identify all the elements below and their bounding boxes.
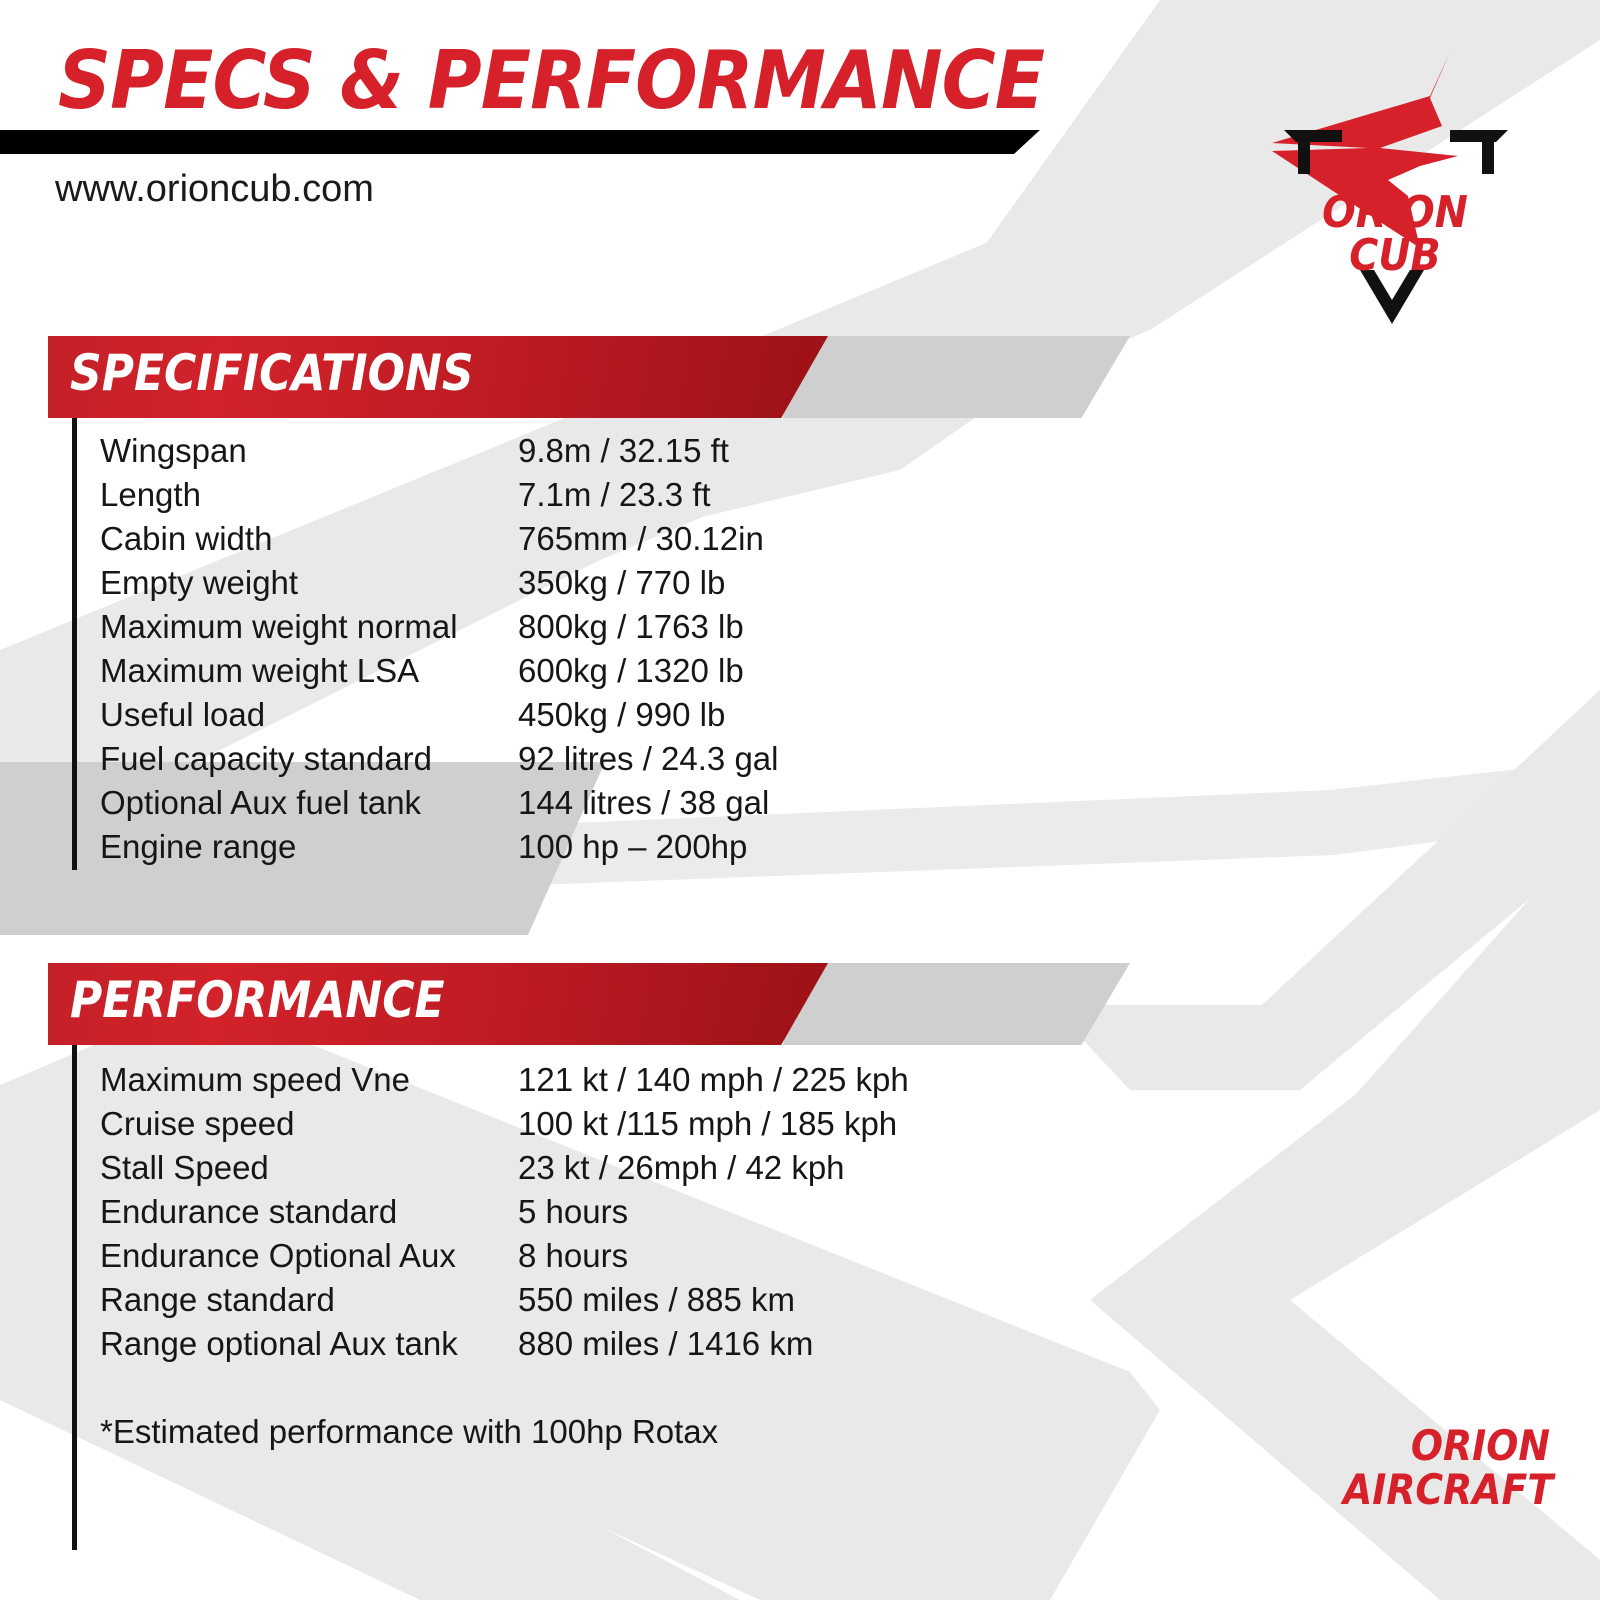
spec-label: Length: [100, 476, 518, 514]
performance-table: Maximum speed Vne 121 kt / 140 mph / 225…: [100, 1061, 909, 1369]
perf-label: Endurance Optional Aux: [100, 1237, 518, 1275]
logo-text-cub: CUB: [1283, 234, 1508, 277]
perf-label: Maximum speed Vne: [100, 1061, 518, 1099]
table-row: Optional Aux fuel tank 144 litres / 38 g…: [100, 784, 779, 828]
spec-value: 7.1m / 23.3 ft: [518, 476, 711, 514]
perf-label: Range standard: [100, 1281, 518, 1319]
specifications-section: SPECIFICATIONS Wingspan 9.8m / 32.15 ft …: [48, 336, 1130, 418]
table-row: Maximum speed Vne 121 kt / 140 mph / 225…: [100, 1061, 909, 1105]
spec-label: Fuel capacity standard: [100, 740, 518, 778]
spec-label: Empty weight: [100, 564, 518, 602]
specifications-banner: SPECIFICATIONS: [48, 336, 1130, 418]
performance-left-rule: [72, 1045, 77, 1550]
spec-sheet-page: SPECS & PERFORMANCE www.orioncub.com ORI…: [0, 0, 1600, 1600]
logo-text-orion: ORION: [1283, 191, 1508, 234]
table-row: Useful load 450kg / 990 lb: [100, 696, 779, 740]
specifications-heading: SPECIFICATIONS: [70, 344, 474, 402]
spec-value: 92 litres / 24.3 gal: [518, 740, 779, 778]
spec-value: 144 litres / 38 gal: [518, 784, 769, 822]
spec-label: Wingspan: [100, 432, 518, 470]
performance-banner-grey: [783, 963, 1130, 1045]
perf-value: 5 hours: [518, 1193, 628, 1231]
spec-value: 600kg / 1320 lb: [518, 652, 744, 690]
table-row: Cruise speed 100 kt /115 mph / 185 kph: [100, 1105, 909, 1149]
spec-value: 450kg / 990 lb: [518, 696, 725, 734]
table-row: Length 7.1m / 23.3 ft: [100, 476, 779, 520]
perf-value: 100 kt /115 mph / 185 kph: [518, 1105, 897, 1143]
table-row: Cabin width 765mm / 30.12in: [100, 520, 779, 564]
website-url[interactable]: www.orioncub.com: [55, 168, 374, 211]
perf-label: Endurance standard: [100, 1193, 518, 1231]
table-row: Maximum weight normal 800kg / 1763 lb: [100, 608, 779, 652]
spec-value: 100 hp – 200hp: [518, 828, 747, 866]
perf-value: 121 kt / 140 mph / 225 kph: [518, 1061, 909, 1099]
table-row: Endurance Optional Aux 8 hours: [100, 1237, 909, 1281]
table-row: Engine range 100 hp – 200hp: [100, 828, 779, 872]
table-row: Empty weight 350kg / 770 lb: [100, 564, 779, 608]
perf-label: Stall Speed: [100, 1149, 518, 1187]
spec-label: Maximum weight normal: [100, 608, 518, 646]
spec-value: 9.8m / 32.15 ft: [518, 432, 729, 470]
table-row: Maximum weight LSA 600kg / 1320 lb: [100, 652, 779, 696]
perf-label: Cruise speed: [100, 1105, 518, 1143]
orion-aircraft-logo: ORION AIRCRAFT: [1320, 1425, 1550, 1535]
spec-label: Maximum weight LSA: [100, 652, 518, 690]
perf-value: 880 miles / 1416 km: [518, 1325, 813, 1363]
table-row: Range optional Aux tank 880 miles / 1416…: [100, 1325, 909, 1369]
spec-value: 800kg / 1763 lb: [518, 608, 744, 646]
performance-section: PERFORMANCE Maximum speed Vne 121 kt / 1…: [48, 963, 1130, 1045]
perf-label: Range optional Aux tank: [100, 1325, 518, 1363]
table-row: Stall Speed 23 kt / 26mph / 42 kph: [100, 1149, 909, 1193]
specifications-table: Wingspan 9.8m / 32.15 ft Length 7.1m / 2…: [100, 432, 779, 872]
spec-value: 765mm / 30.12in: [518, 520, 764, 558]
specifications-left-rule: [72, 418, 77, 870]
spec-value: 350kg / 770 lb: [518, 564, 725, 602]
orion-cub-logo: ORION CUB: [1270, 48, 1520, 328]
perf-value: 23 kt / 26mph / 42 kph: [518, 1149, 845, 1187]
performance-heading: PERFORMANCE: [70, 971, 445, 1029]
spec-label: Useful load: [100, 696, 518, 734]
page-title: SPECS & PERFORMANCE: [58, 34, 1044, 127]
table-row: Range standard 550 miles / 885 km: [100, 1281, 909, 1325]
specifications-banner-grey: [783, 336, 1130, 418]
table-row: Endurance standard 5 hours: [100, 1193, 909, 1237]
spec-label: Optional Aux fuel tank: [100, 784, 518, 822]
table-row: Fuel capacity standard 92 litres / 24.3 …: [100, 740, 779, 784]
spec-label: Cabin width: [100, 520, 518, 558]
logo-text-aircraft-bottom: AIRCRAFT: [1343, 1469, 1550, 1510]
performance-footnote: *Estimated performance with 100hp Rotax: [100, 1413, 718, 1451]
performance-banner: PERFORMANCE: [48, 963, 1130, 1045]
table-row: Wingspan 9.8m / 32.15 ft: [100, 432, 779, 476]
title-underline-bar: [0, 130, 1040, 154]
perf-value: 8 hours: [518, 1237, 628, 1275]
perf-value: 550 miles / 885 km: [518, 1281, 795, 1319]
logo-text-orion-bottom: ORION: [1343, 1425, 1550, 1466]
spec-label: Engine range: [100, 828, 518, 866]
